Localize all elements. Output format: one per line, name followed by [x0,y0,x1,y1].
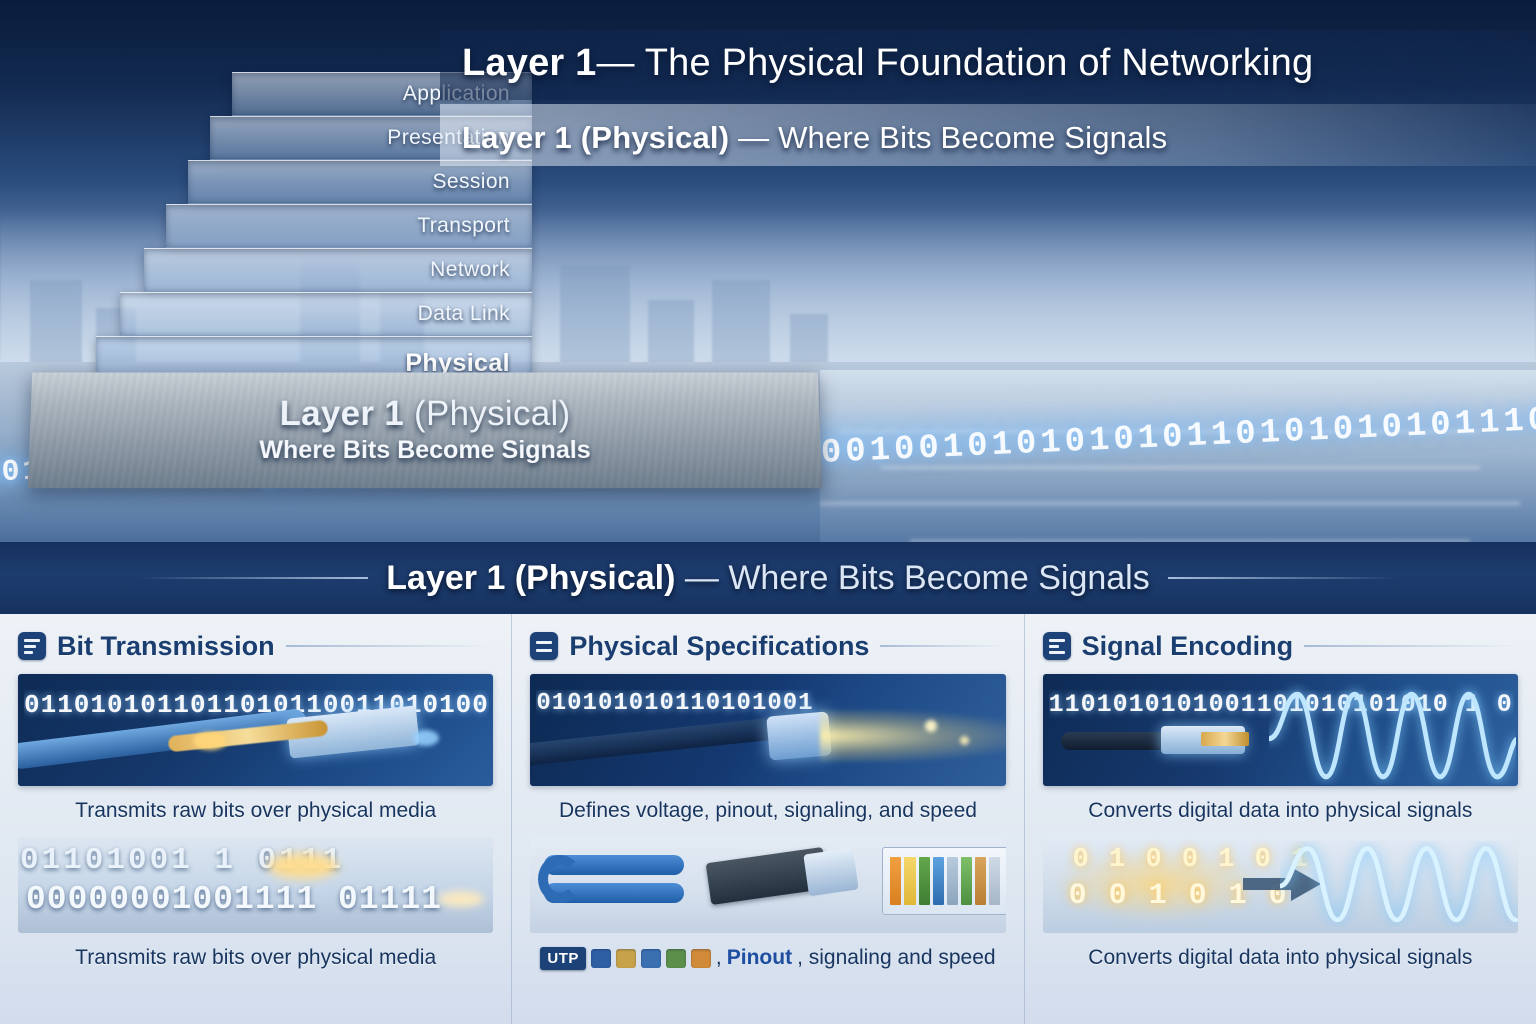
hero-title-rest: — The Physical Foundation of Networking [597,42,1314,84]
binary-row-2: 00000001001111 01111 [26,881,442,918]
signal-glow [193,732,227,750]
utp-badge: UTP [540,947,586,970]
pinout-diagram [882,847,1005,915]
light-streak-glow [438,891,484,907]
spec-bold-term: Pinout [727,946,792,970]
signal-glow [413,730,439,746]
hero-subtitle: Layer 1 (Physical) — Where Bits Become S… [462,120,1167,156]
spec-prefix: , [716,946,722,970]
hero-subtitle-bold: Layer 1 (Physical) [462,120,729,155]
column-physical-specifications: Physical Specifications 0101010101101010… [511,614,1023,1024]
column-title: Signal Encoding [1082,631,1294,662]
rj45-connector-tip [804,848,859,897]
osi-layer-label: Session [432,170,510,194]
media-card-cable-bits: 0110101011011010110011010100 [18,674,493,786]
light-streak-glow [268,853,338,879]
caption-bottom: Converts digital data into physical sign… [1043,946,1518,970]
osi-layer-label: Transport [417,214,510,238]
divider-title: Layer 1 (Physical) — Where Bits Become S… [386,559,1149,598]
divider-title-rest: — Where Bits Become Signals [685,559,1150,597]
list-lines-icon [18,632,46,660]
foundation-subtitle: Where Bits Become Signals [29,436,822,465]
osi-layer-datalink[interactable]: Data Link [120,292,532,336]
infographic-root: 01010101010101011101010100100101 0101010… [0,0,1536,1024]
foundation-slab: Layer 1 (Physical) Where Bits Become Sig… [28,372,823,488]
fiber-cable-shape [530,715,800,767]
media-card-binary-stream: 01101001 1 0111 00000001001111 01111 [18,837,493,933]
osi-layer-transport[interactable]: Transport [166,204,532,248]
media-card-encoding-transform: 0 1 0 0 1 0 1 0 0 1 0 1 0 [1043,837,1518,933]
encode-lines-icon [1043,632,1071,660]
hero-section: 01010101010101011101010100100101 0101010… [0,0,1536,612]
wire-swatch-4 [666,949,686,968]
header-rule [286,645,494,647]
divider-rule-right [1168,577,1398,579]
fiber-strands-glow [820,710,1005,762]
column-header: Signal Encoding [1043,626,1518,666]
wire-swatch-1 [591,949,611,968]
header-rule [880,645,1005,647]
feature-panel: Bit Transmission 01101010110110101100110… [0,614,1536,1024]
hero-title: Layer 1— The Physical Foundation of Netw… [462,42,1313,85]
column-header: Bit Transmission [18,626,493,666]
coax-cable-shape [1061,732,1171,750]
osi-layer-session[interactable]: Session [188,160,532,204]
foundation-title-rest: (Physical) [414,394,571,433]
media-card-cable-and-pinout [530,837,1005,933]
column-signal-encoding: Signal Encoding 110101010100110101010101… [1024,614,1536,1024]
spec-caption-line: UTP , Pinout , signaling and speed [530,946,1005,970]
column-bit-transmission: Bit Transmission 01101010110110101100110… [0,614,511,1024]
column-title: Bit Transmission [57,631,275,662]
wire-swatch-5 [691,949,711,968]
caption-top: Defines voltage, pinout, signaling, and … [530,799,1005,823]
hero-subtitle-rest: — Where Bits Become Signals [738,120,1167,155]
caption-top: Transmits raw bits over physical media [18,799,493,823]
column-header: Physical Specifications [530,626,1005,666]
divider-title-bold: Layer 1 (Physical) [386,559,675,597]
spec-rest: , signaling and speed [797,946,996,970]
caption-bottom: Transmits raw bits over physical media [18,946,493,970]
equals-lines-icon [530,632,558,660]
hero-title-bold: Layer 1 [462,42,597,84]
section-divider-banner: Layer 1 (Physical) — Where Bits Become S… [0,542,1536,614]
header-rule [1304,645,1518,647]
column-title: Physical Specifications [569,631,869,662]
osi-layer-label: Network [430,258,510,282]
osi-layer-label: Data Link [418,302,510,326]
foundation-title-bold: Layer 1 [279,394,404,433]
media-card-fiber-optic: 010101010110101001 [530,674,1005,786]
encoded-sine-wave-graphic [1280,841,1518,927]
osi-layer-network[interactable]: Network [144,248,532,292]
caption-top: Converts digital data into physical sign… [1043,799,1518,823]
wire-swatch-3 [641,949,661,968]
media-card-signal-wave: 1101010101001101010101010 1 0 1 [1043,674,1518,786]
foundation-text: Layer 1 (Physical) Where Bits Become Sig… [29,394,822,465]
wire-swatch-2 [616,949,636,968]
copper-contacts-shape [1201,732,1249,746]
sine-wave-graphic [1269,682,1516,785]
divider-rule-left [138,577,368,579]
